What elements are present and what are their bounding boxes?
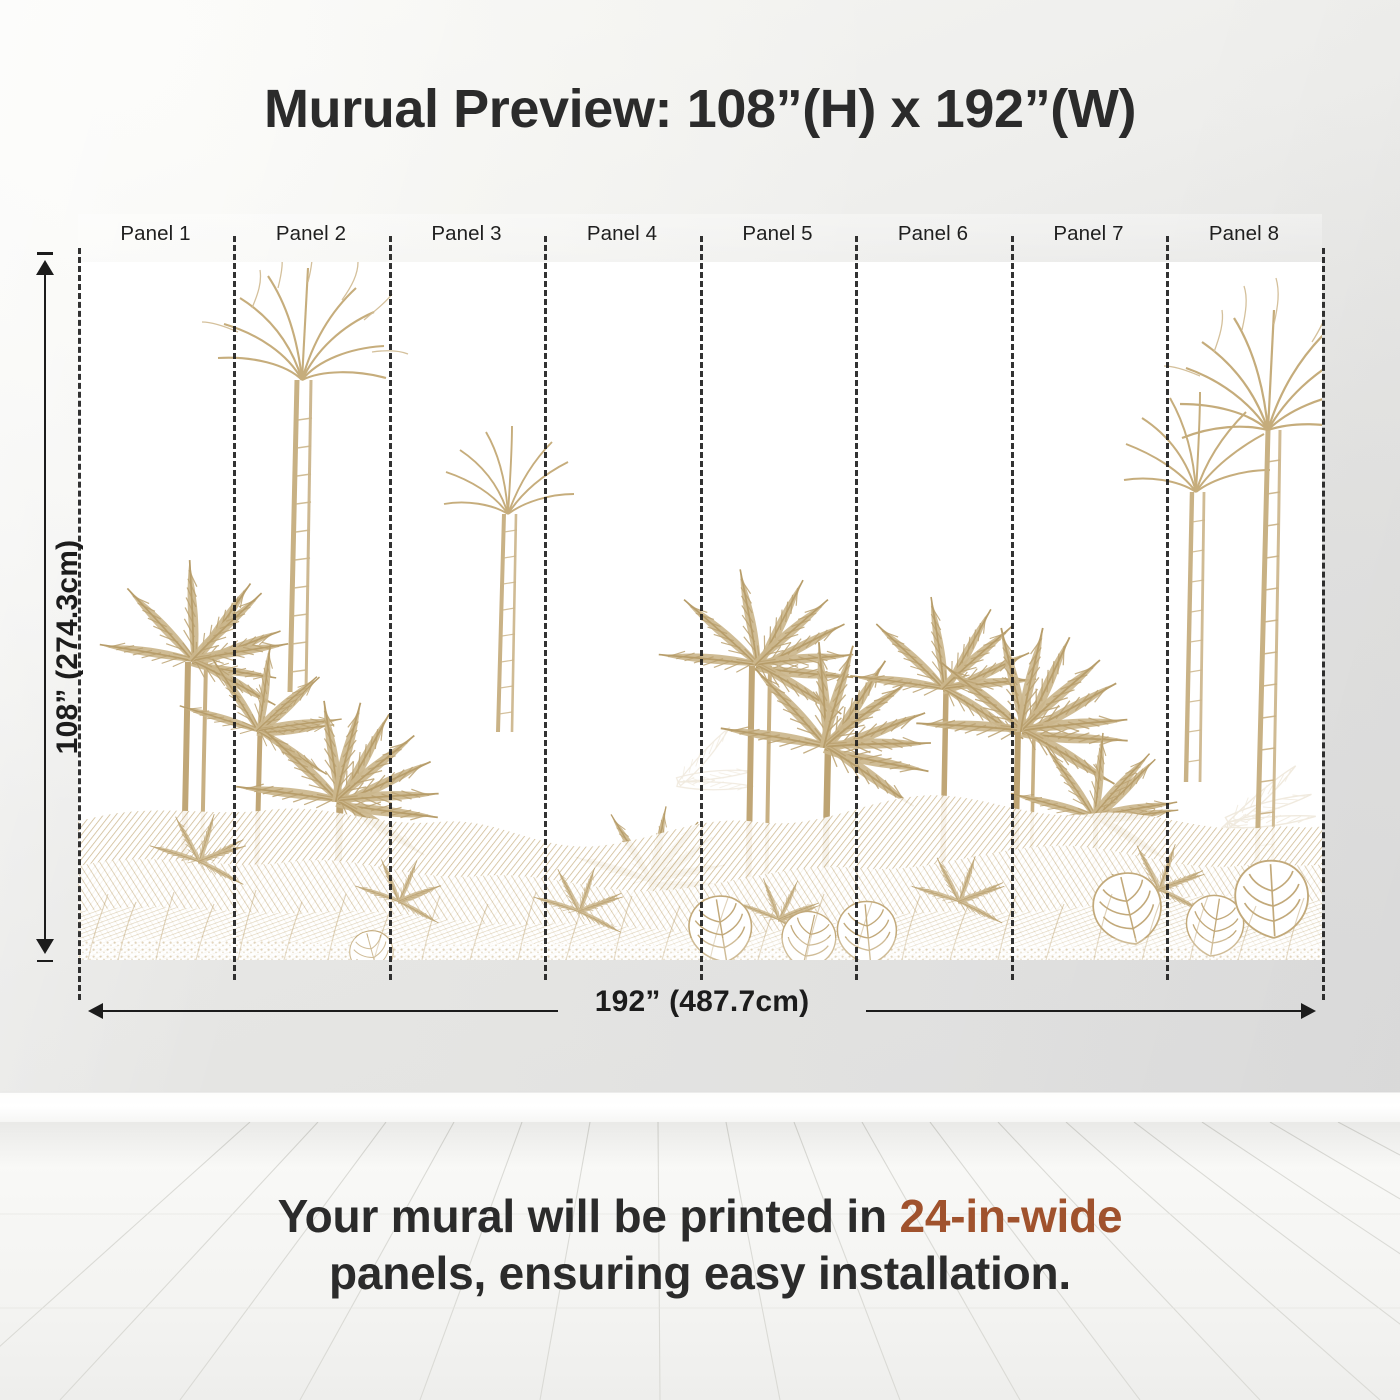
width-dimension-arrow: 192” (487.7cm) <box>88 998 1316 1024</box>
height-dimension-label: 108” (274.3cm) <box>51 367 85 927</box>
width-dimension-label: 192” (487.7cm) <box>88 985 1316 1019</box>
panel-guide-1 <box>233 236 236 980</box>
panel-guide-7 <box>1166 236 1169 980</box>
floor-contact-shadow <box>0 1122 1400 1168</box>
baseboard <box>0 1092 1400 1126</box>
caption-line2: panels, ensuring easy installation. <box>329 1247 1071 1299</box>
page-title: Murual Preview: 108”(H) x 192”(W) <box>0 78 1400 140</box>
height-cap-top <box>37 252 53 255</box>
mural-preview-scene: Murual Preview: 108”(H) x 192”(W) <box>0 0 1400 1400</box>
panel-label-7: Panel 7 <box>1011 219 1166 249</box>
height-cap-bottom <box>37 960 53 963</box>
panel-label-1: Panel 1 <box>78 219 233 249</box>
panel-label-2: Panel 2 <box>233 219 389 249</box>
caption-lead: Your mural will be printed in <box>278 1190 900 1242</box>
panel-label-5: Panel 5 <box>700 219 855 249</box>
panel-guide-5 <box>855 236 858 980</box>
caption-accent: 24-in-wide <box>899 1190 1122 1242</box>
panel-label-4: Panel 4 <box>544 219 700 249</box>
panel-label-6: Panel 6 <box>855 219 1011 249</box>
panel-label-8: Panel 8 <box>1166 219 1322 249</box>
panel-guide-2 <box>389 236 392 980</box>
panel-label-3: Panel 3 <box>389 219 544 249</box>
panel-guide-6 <box>1011 236 1014 980</box>
height-arrowhead-up <box>36 260 54 275</box>
height-label-wrapper: 108” (274.3cm) <box>20 300 62 600</box>
panel-guide-right-edge <box>1322 248 1325 1000</box>
footer-caption: Your mural will be printed in 24-in-wide… <box>100 1188 1300 1302</box>
height-arrowhead-down <box>36 939 54 954</box>
panel-guide-4 <box>700 236 703 980</box>
panel-guide-3 <box>544 236 547 980</box>
